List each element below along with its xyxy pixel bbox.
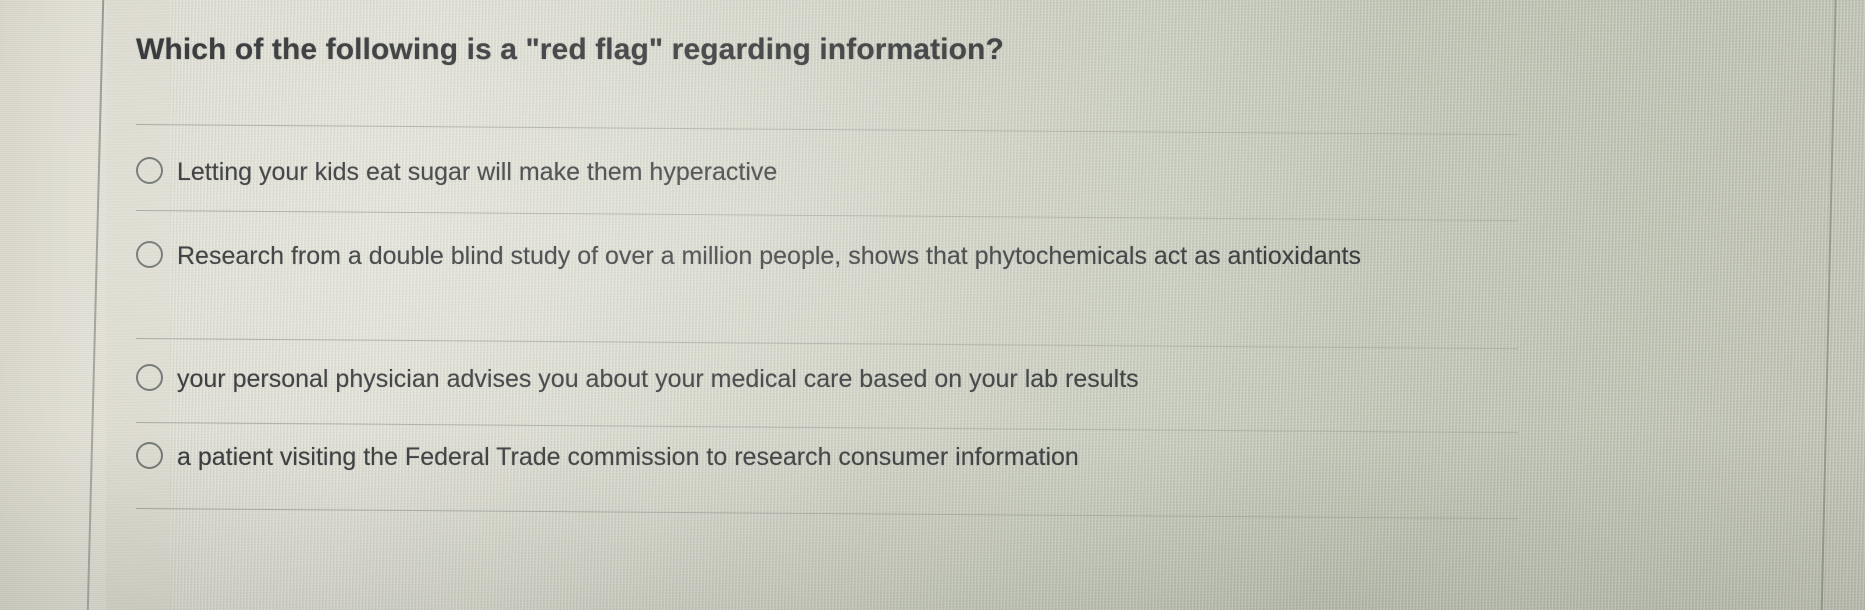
radio-unselected-icon[interactable] xyxy=(136,241,163,268)
radio-unselected-icon[interactable] xyxy=(136,364,163,391)
answer-option-b[interactable]: Research from a double blind study of ov… xyxy=(136,237,1496,275)
option-divider xyxy=(136,508,1518,519)
answer-option-a-label: Letting your kids eat sugar will make th… xyxy=(177,153,777,191)
answer-option-c-label: your personal physician advises you abou… xyxy=(177,360,1139,398)
answer-option-c[interactable]: your personal physician advises you abou… xyxy=(136,360,1476,398)
answer-option-d-label: a patient visiting the Federal Trade com… xyxy=(177,438,1079,476)
answer-option-a[interactable]: Letting your kids eat sugar will make th… xyxy=(136,153,1476,191)
option-divider xyxy=(136,338,1518,349)
radio-unselected-icon[interactable] xyxy=(136,157,163,184)
option-divider xyxy=(136,210,1518,221)
answer-option-b-label: Research from a double blind study of ov… xyxy=(177,237,1361,275)
option-divider xyxy=(136,422,1518,433)
question-title: Which of the following is a "red flag" r… xyxy=(136,33,1004,67)
radio-unselected-icon[interactable] xyxy=(136,442,163,469)
answer-option-d[interactable]: a patient visiting the Federal Trade com… xyxy=(136,438,1456,476)
option-divider xyxy=(136,124,1518,135)
question-card: Which of the following is a "red flag" r… xyxy=(136,0,1836,610)
quiz-screenshot: Which of the following is a "red flag" r… xyxy=(0,0,1865,610)
